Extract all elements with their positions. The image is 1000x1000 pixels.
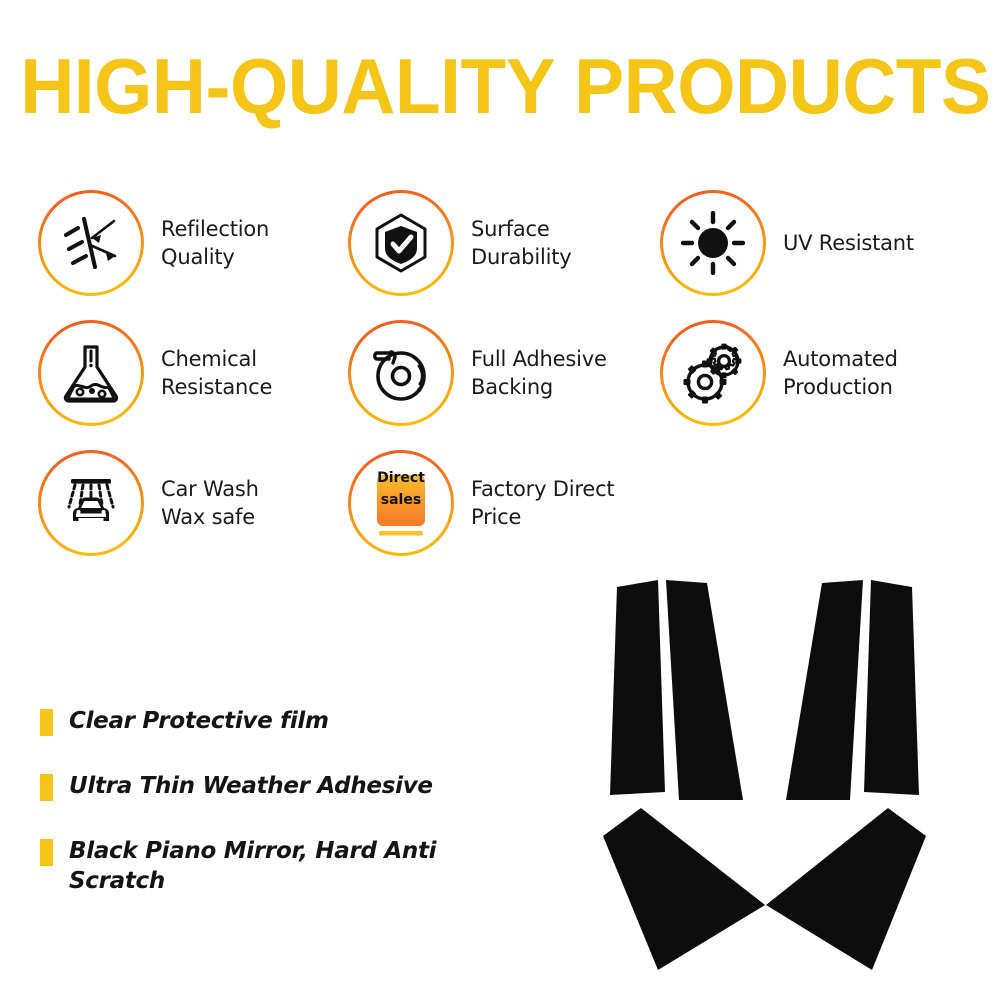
gears-icon <box>681 341 745 405</box>
icon-ring <box>660 190 766 296</box>
feature-label: Factory Direct Price <box>471 475 614 531</box>
feature-label-line1: Surface <box>471 215 571 243</box>
feature-item-uv-resistant: UV Resistant <box>660 178 968 308</box>
icon-ring <box>348 320 454 426</box>
trim-piece-4 <box>864 580 919 795</box>
feature-label-line2: Resistance <box>161 373 272 401</box>
bullet-label: Ultra Thin Weather Adhesive <box>69 771 433 801</box>
icon-ring: Direct sales <box>348 450 454 556</box>
sun-icon <box>681 211 745 275</box>
bullet-label: Black Piano Mirror, Hard Anti Scratch <box>69 836 499 896</box>
feature-label-line2: Quality <box>161 243 269 271</box>
tape-roll-icon <box>369 341 433 405</box>
icon-ring <box>38 320 144 426</box>
flask-icon <box>59 341 123 405</box>
feature-label: Automated Production <box>783 345 898 401</box>
trim-piece-2 <box>666 580 743 800</box>
feature-row-3: Car Wash Wax safe <box>38 438 968 568</box>
feature-label-line2: Price <box>471 503 614 531</box>
bullet-square-icon <box>40 774 53 801</box>
trim-piece-group-lower <box>603 808 926 970</box>
list-item: Ultra Thin Weather Adhesive <box>40 771 540 801</box>
feature-label-line2: Production <box>783 373 898 401</box>
feature-label-line2: Durability <box>471 243 571 271</box>
badge-text-line1: Direct <box>377 470 425 486</box>
icon-ring <box>348 190 454 296</box>
feature-item-surface-durability: Surface Durability <box>348 178 660 308</box>
feature-item-chemical-resistance: Chemical Resistance <box>38 308 348 438</box>
feature-label-line1: Automated <box>783 345 898 373</box>
feature-item-car-wash-wax-safe: Car Wash Wax safe <box>38 438 348 568</box>
trim-piece-5 <box>603 808 765 970</box>
feature-item-empty-slot <box>660 438 968 568</box>
page-title: HIGH-QUALITY PRODUCTS <box>20 46 990 126</box>
shield-hexagon-icon <box>369 211 433 275</box>
icon-ring <box>660 320 766 426</box>
pillar-post-trim-pieces-illustration <box>570 560 1000 980</box>
feature-label-line1: Refilection <box>161 215 269 243</box>
feature-label-line1: Full Adhesive <box>471 345 607 373</box>
icon-ring <box>38 190 144 296</box>
trim-piece-6 <box>766 808 926 970</box>
feature-label-line1: Chemical <box>161 345 272 373</box>
feature-bullet-list: Clear Protective film Ultra Thin Weather… <box>40 706 540 931</box>
list-item: Clear Protective film <box>40 706 540 736</box>
trim-piece-3 <box>786 580 863 800</box>
feature-label-line2: Wax safe <box>161 503 259 531</box>
trim-piece-1 <box>610 580 665 795</box>
feature-label: Car Wash Wax safe <box>161 475 259 531</box>
feature-label: Surface Durability <box>471 215 571 271</box>
feature-label-line1: Car Wash <box>161 475 259 503</box>
product-image <box>570 560 1000 980</box>
feature-label: Full Adhesive Backing <box>471 345 607 401</box>
bullet-square-icon <box>40 839 53 866</box>
feature-label: UV Resistant <box>783 229 914 257</box>
feature-row-1: Refilection Quality Surface Durability <box>38 178 968 308</box>
reflection-icon <box>59 211 123 275</box>
direct-sales-badge-icon: Direct sales <box>371 467 431 539</box>
trim-piece-group-upper <box>610 580 919 800</box>
feature-grid: Refilection Quality Surface Durability <box>38 178 968 568</box>
feature-row-2: Chemical Resistance Fu <box>38 308 968 438</box>
feature-label-line1: UV Resistant <box>783 229 914 257</box>
feature-item-factory-direct-price: Direct sales Factory Direct Price <box>348 438 660 568</box>
feature-label: Chemical Resistance <box>161 345 272 401</box>
feature-item-full-adhesive-backing: Full Adhesive Backing <box>348 308 660 438</box>
feature-label-line2: Backing <box>471 373 607 401</box>
bullet-label: Clear Protective film <box>69 706 329 736</box>
bullet-square-icon <box>40 709 53 736</box>
list-item: Black Piano Mirror, Hard Anti Scratch <box>40 836 540 896</box>
headline-container: HIGH-QUALITY PRODUCTS <box>0 46 1000 126</box>
car-wash-icon <box>59 471 123 535</box>
product-marketing-page: HIGH-QUALITY PRODUCTS <box>0 0 1000 1000</box>
icon-ring <box>38 450 144 556</box>
feature-item-automated-production: Automated Production <box>660 308 968 438</box>
feature-label: Refilection Quality <box>161 215 269 271</box>
badge-text-line2: sales <box>381 492 421 508</box>
feature-item-reflection-quality: Refilection Quality <box>38 178 348 308</box>
feature-label-line1: Factory Direct <box>471 475 614 503</box>
